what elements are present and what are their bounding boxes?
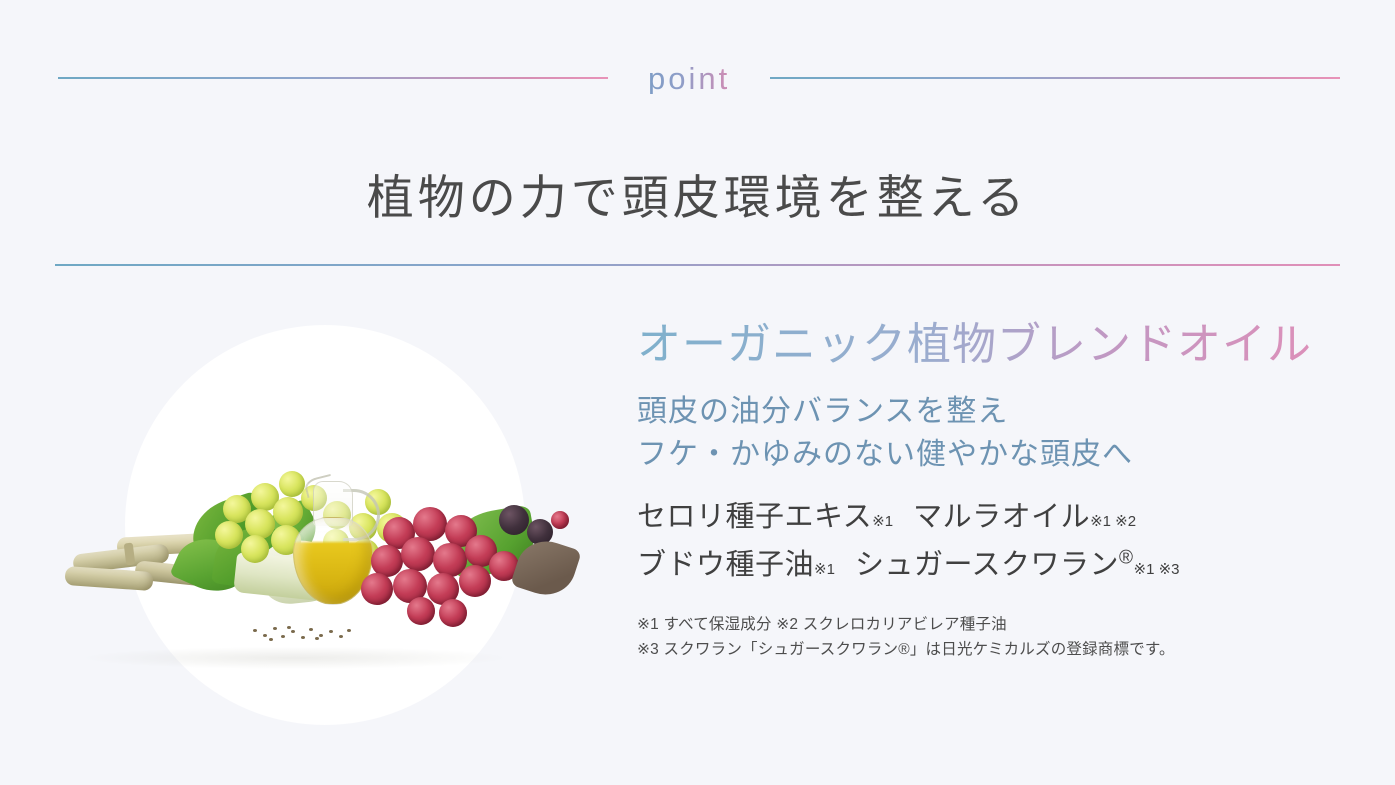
ingredient-name: セロリ種子エキス: [637, 501, 872, 533]
footnote-line: ※1 すべて保湿成分 ※2 スクレロカリアビレア種子油: [637, 612, 1347, 637]
eyebrow-row: point: [58, 55, 1340, 101]
red-grape-icon: [551, 511, 569, 529]
eyebrow-rule-right: [770, 77, 1340, 79]
page-title: 植物の力で頭皮環境を整える: [0, 167, 1395, 228]
ingredient-marks: ※1: [814, 561, 835, 578]
ingredient-marks: ※1: [872, 513, 893, 530]
ingredient-name: シュガースクワラン: [855, 549, 1119, 581]
ingredient-name: マルラオイル: [913, 501, 1090, 533]
green-grape-icon: [245, 509, 275, 539]
product-info: オーガニック植物ブレンドオイル 頭皮の油分バランスを整え フケ・かゆみのない健や…: [637, 318, 1347, 662]
footnote-line: ※3 スクワラン「シュガースクワラン®」は日光ケミカルズの登録商標です。: [637, 637, 1347, 662]
ingredient-row: ブドウ種子油※1シュガースクワラン®※1 ※3: [637, 541, 1347, 590]
red-grape-icon: [413, 507, 447, 541]
surface-reflection: [85, 647, 505, 669]
red-grape-icon: [407, 597, 435, 625]
ingredient-name: ブドウ種子油: [637, 549, 814, 581]
seed-scatter-icon: [251, 625, 361, 641]
product-title: オーガニック植物ブレンドオイル: [637, 318, 1347, 372]
ingredient-marks: ※1 ※3: [1134, 561, 1180, 578]
red-grape-icon: [459, 565, 491, 597]
ingredient-list: セロリ種子エキス※1マルラオイル※1 ※2 ブドウ種子油※1シュガースクワラン®…: [637, 493, 1347, 590]
product-subtitle-line2: フケ・かゆみのない健やかな頭皮へ: [637, 433, 1347, 477]
product-visual: [125, 325, 525, 725]
footnotes: ※1 すべて保湿成分 ※2 スクレロカリアビレア種子油 ※3 スクワラン「シュガ…: [637, 612, 1347, 662]
red-grape-icon: [439, 599, 467, 627]
green-grape-icon: [215, 521, 243, 549]
eyebrow-label: point: [608, 63, 770, 94]
ingredients-still-life-image: [65, 465, 585, 665]
product-subtitle: 頭皮の油分バランスを整え フケ・かゆみのない健やかな頭皮へ: [637, 390, 1347, 477]
red-grape-icon: [361, 573, 393, 605]
red-grape-icon: [401, 537, 435, 571]
ingredient-marks: ※1 ※2: [1090, 513, 1136, 530]
eyebrow-rule-left: [58, 77, 608, 79]
dark-grape-icon: [499, 505, 529, 535]
green-grape-icon: [241, 535, 269, 563]
ingredient-row: セロリ種子エキス※1マルラオイル※1 ※2: [637, 493, 1347, 542]
section-divider: [55, 264, 1340, 266]
point-section: point 植物の力で頭皮環境を整える: [0, 0, 1395, 785]
product-subtitle-line1: 頭皮の油分バランスを整え: [637, 390, 1347, 434]
registered-trademark-icon: ®: [1119, 548, 1134, 569]
